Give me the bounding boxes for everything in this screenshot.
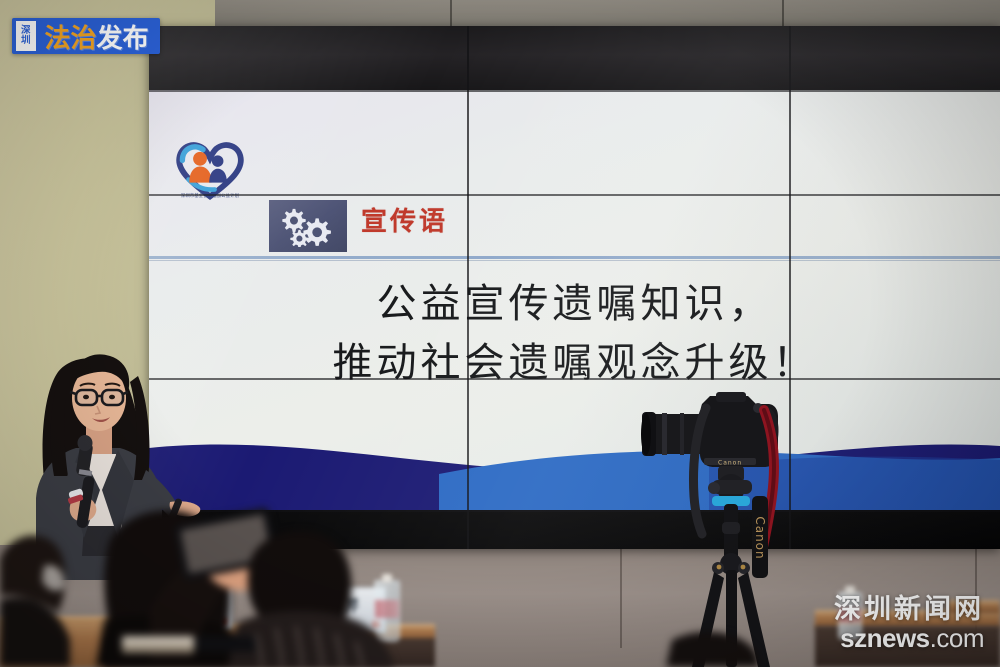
watermark-main-text: 法 治 发 布	[36, 18, 160, 54]
sznews-tld: .com	[930, 623, 984, 653]
watermark-char-3: 发	[97, 18, 123, 54]
watermark-badge-line2: 圳	[21, 36, 31, 46]
sznews-brand: sznews	[840, 623, 930, 653]
watermark-char-4: 布	[123, 18, 149, 54]
sznews-chinese-text: 深圳新闻网	[834, 595, 984, 625]
sznews-watermark: 深圳新闻网 sznews.com	[834, 595, 984, 653]
shenzhen-fazhi-fabu-watermark: 深 圳 法 治 发 布	[12, 18, 160, 54]
watermark-char-2: 治	[71, 18, 97, 54]
sznews-english-text: sznews.com	[834, 624, 984, 653]
photo-scene: 深圳市基金会幸福加公益计划	[0, 0, 1000, 667]
watermark-char-1: 法	[45, 18, 71, 54]
watermark-badge: 深 圳	[16, 21, 36, 51]
